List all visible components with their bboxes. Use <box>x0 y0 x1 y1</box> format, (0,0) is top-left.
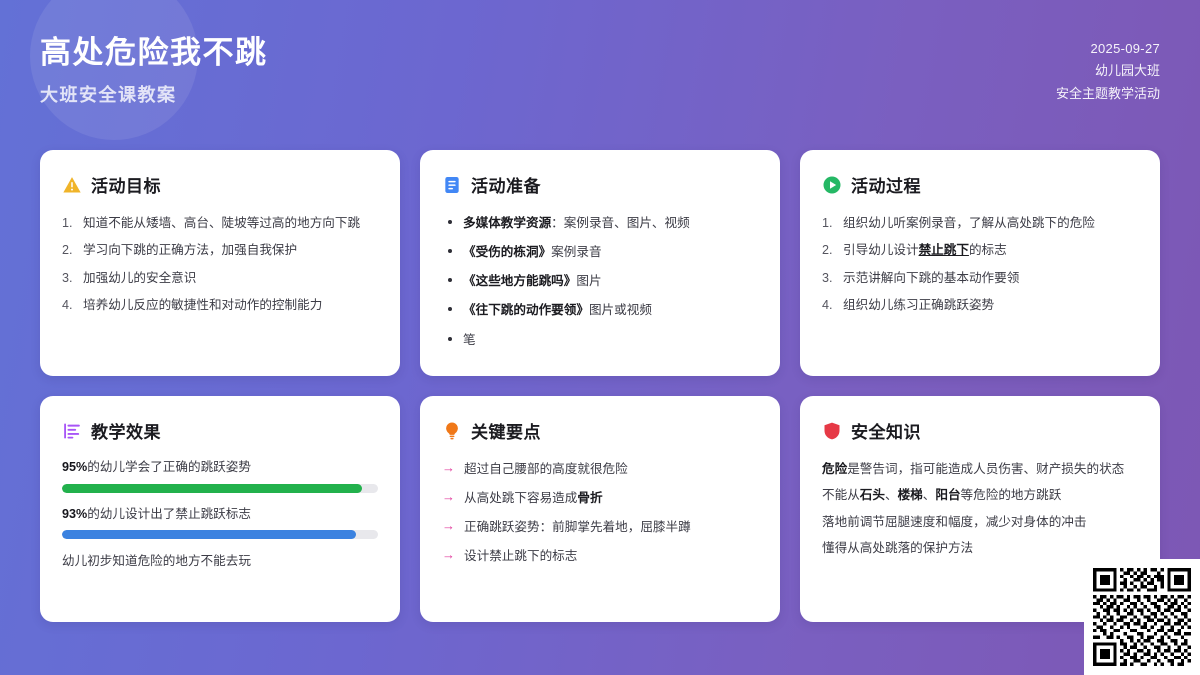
card-header: 活动目标 <box>62 172 378 197</box>
header-meta: 2025-09-27 幼儿园大班 安全主题教学活动 <box>1056 34 1160 105</box>
page-subtitle: 大班安全课教案 <box>40 81 268 107</box>
results-note: 幼儿初步知道危险的地方不能去玩 <box>62 552 378 571</box>
list-item: 设计禁止跳下的标志 <box>442 546 758 566</box>
bar-chart-icon <box>62 421 82 441</box>
progress-track <box>62 530 378 539</box>
list-item: 加强幼儿的安全意识 <box>62 268 378 288</box>
card-key-points[interactable]: 关键要点超过自己腰部的高度就很危险从高处跳下容易造成骨折正确跳跃姿势：前脚掌先着… <box>420 396 780 622</box>
list-item: 培养幼儿反应的敏捷性和对动作的控制能力 <box>62 295 378 315</box>
list-item: 正确跳跃姿势：前脚掌先着地，屈膝半蹲 <box>442 517 758 537</box>
list-item: 《往下跳的动作要领》图片或视频 <box>442 300 758 320</box>
card-header: 关键要点 <box>442 418 758 443</box>
key-points-list: 超过自己腰部的高度就很危险从高处跳下容易造成骨折正确跳跃姿势：前脚掌先着地，屈膝… <box>442 459 758 567</box>
metric-label: 95%的幼儿学会了正确的跳跃姿势 <box>62 459 378 477</box>
list-item: 超过自己腰部的高度就很危险 <box>442 459 758 479</box>
meta-grade: 幼儿园大班 <box>1056 60 1160 82</box>
card-grid: 活动目标知道不能从矮墙、高台、陡坡等过高的地方向下跳学习向下跳的正确方法，加强自… <box>0 150 1200 622</box>
qr-code-icon <box>1093 568 1191 666</box>
card-title: 教学效果 <box>91 418 161 443</box>
page-title: 高处危险我不跳 <box>40 34 268 72</box>
book-icon <box>442 175 462 195</box>
card-activity-process[interactable]: 活动过程组织幼儿听案例录音，了解从高处跳下的危险引导幼儿设计禁止跳下的标志示范讲… <box>800 150 1160 376</box>
knowledge-line: 危险是警告词，指可能造成人员伤害、财产损失的状态 <box>822 459 1138 479</box>
list-item: 知道不能从矮墙、高台、陡坡等过高的地方向下跳 <box>62 213 378 233</box>
list-item: 《这些地方能跳吗》图片 <box>442 271 758 291</box>
metric-row: 93%的幼儿设计出了禁止跳跃标志 <box>62 506 378 540</box>
meta-category: 安全主题教学活动 <box>1056 83 1160 105</box>
card-title: 活动准备 <box>471 172 541 197</box>
list-item: 示范讲解向下跳的基本动作要领 <box>822 268 1138 288</box>
meta-date: 2025-09-27 <box>1056 38 1160 60</box>
card-activity-goals[interactable]: 活动目标知道不能从矮墙、高台、陡坡等过高的地方向下跳学习向下跳的正确方法，加强自… <box>40 150 400 376</box>
card-title: 关键要点 <box>471 418 541 443</box>
activity-goals-list: 知道不能从矮墙、高台、陡坡等过高的地方向下跳学习向下跳的正确方法，加强自我保护加… <box>62 213 378 316</box>
progress-fill <box>62 530 356 539</box>
list-item: 组织幼儿听案例录音，了解从高处跳下的危险 <box>822 213 1138 233</box>
shield-icon <box>822 421 842 441</box>
activity-process-list: 组织幼儿听案例录音，了解从高处跳下的危险引导幼儿设计禁止跳下的标志示范讲解向下跳… <box>822 213 1138 316</box>
card-title: 活动过程 <box>851 172 921 197</box>
list-item: 笔 <box>442 330 758 350</box>
card-title: 活动目标 <box>91 172 161 197</box>
card-teaching-results[interactable]: 教学效果95%的幼儿学会了正确的跳跃姿势93%的幼儿设计出了禁止跳跃标志幼儿初步… <box>40 396 400 622</box>
knowledge-line: 懂得从高处跳落的保护方法 <box>822 538 1138 558</box>
progress-fill <box>62 484 362 493</box>
progress-track <box>62 484 378 493</box>
metric-label: 93%的幼儿设计出了禁止跳跃标志 <box>62 506 378 524</box>
card-header: 活动过程 <box>822 172 1138 197</box>
teaching-results-metrics: 95%的幼儿学会了正确的跳跃姿势93%的幼儿设计出了禁止跳跃标志 <box>62 459 378 539</box>
card-activity-preparation[interactable]: 活动准备多媒体教学资源：案例录音、图片、视频《受伤的栋洞》案例录音《这些地方能跳… <box>420 150 780 376</box>
play-circle-icon <box>822 175 842 195</box>
list-item: 《受伤的栋洞》案例录音 <box>442 242 758 262</box>
list-item: 学习向下跳的正确方法，加强自我保护 <box>62 240 378 260</box>
warning-triangle-icon <box>62 175 82 195</box>
knowledge-line: 不能从石头、楼梯、阳台等危险的地方跳跃 <box>822 485 1138 505</box>
list-item: 组织幼儿练习正确跳跃姿势 <box>822 295 1138 315</box>
list-item: 引导幼儿设计禁止跳下的标志 <box>822 240 1138 260</box>
page-header: 高处危险我不跳 大班安全课教案 2025-09-27 幼儿园大班 安全主题教学活… <box>0 0 1200 150</box>
card-header: 活动准备 <box>442 172 758 197</box>
metric-row: 95%的幼儿学会了正确的跳跃姿势 <box>62 459 378 493</box>
safety-knowledge-lines: 危险是警告词，指可能造成人员伤害、财产损失的状态不能从石头、楼梯、阳台等危险的地… <box>822 459 1138 559</box>
title-block: 高处危险我不跳 大班安全课教案 <box>40 34 268 107</box>
list-item: 从高处跳下容易造成骨折 <box>442 488 758 508</box>
card-title: 安全知识 <box>851 418 921 443</box>
qr-code-overlay[interactable] <box>1084 559 1200 675</box>
card-header: 安全知识 <box>822 418 1138 443</box>
list-item: 多媒体教学资源：案例录音、图片、视频 <box>442 213 758 233</box>
knowledge-line: 落地前调节屈腿速度和幅度，减少对身体的冲击 <box>822 512 1138 532</box>
lightbulb-icon <box>442 421 462 441</box>
activity-preparation-list: 多媒体教学资源：案例录音、图片、视频《受伤的栋洞》案例录音《这些地方能跳吗》图片… <box>442 213 758 350</box>
card-header: 教学效果 <box>62 418 378 443</box>
